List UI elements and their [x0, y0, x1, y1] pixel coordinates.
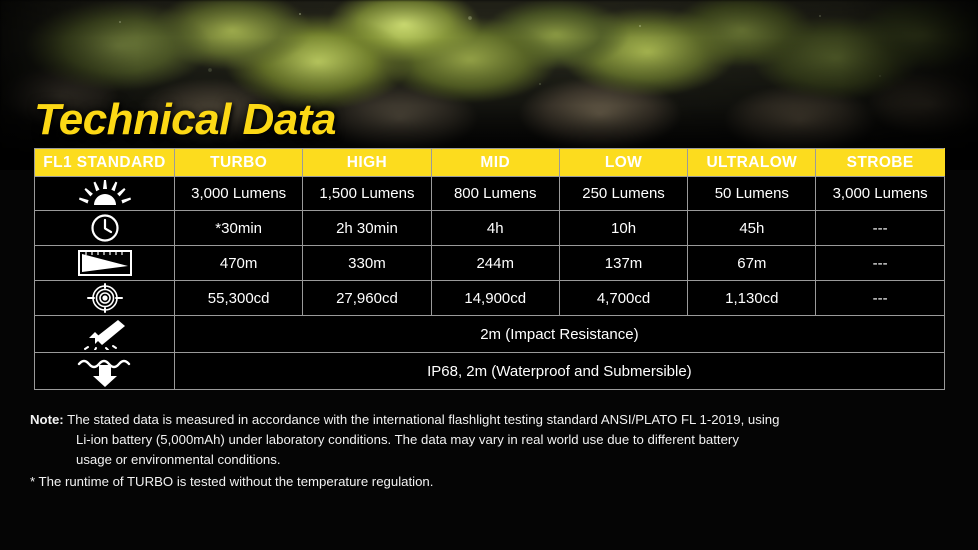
- page-title: Technical Data: [34, 95, 336, 145]
- row-icon-cell-intensity: [35, 281, 175, 316]
- cell-output-ultralow: 50 Lumens: [688, 177, 816, 211]
- cell-intensity-strobe: ---: [816, 281, 944, 316]
- cell-beam-strobe: ---: [816, 246, 944, 281]
- header-ultralow: ULTRALOW: [688, 149, 816, 177]
- impact-resistance-icon: [82, 318, 128, 350]
- cell-waterproof: IP68, 2m (Waterproof and Submersible): [175, 353, 945, 390]
- header-low: LOW: [559, 149, 687, 177]
- cell-runtime-strobe: ---: [816, 211, 944, 246]
- waterproof-icon: [77, 355, 133, 387]
- table-row: IP68, 2m (Waterproof and Submersible): [35, 353, 945, 390]
- cell-beam-ultralow: 67m: [688, 246, 816, 281]
- note-line-4: * The runtime of TURBO is tested without…: [30, 472, 950, 492]
- cell-output-high: 1,500 Lumens: [303, 177, 431, 211]
- table-row: *30min 2h 30min 4h 10h 45h ---: [35, 211, 945, 246]
- peak-beam-intensity-icon: [85, 283, 125, 313]
- table-row: 470m 330m 244m 137m 67m ---: [35, 246, 945, 281]
- cell-runtime-mid: 4h: [431, 211, 559, 246]
- row-icon-cell-waterproof: [35, 353, 175, 390]
- cell-intensity-ultralow: 1,130cd: [688, 281, 816, 316]
- table-row: 3,000 Lumens 1,500 Lumens 800 Lumens 250…: [35, 177, 945, 211]
- notes-block: Note: The stated data is measured in acc…: [30, 410, 950, 492]
- row-icon-cell-beam-distance: [35, 246, 175, 281]
- technical-data-page: Technical Data FL1 STANDARD TURBO HIGH M…: [0, 0, 978, 550]
- row-icon-cell-impact: [35, 316, 175, 353]
- cell-output-turbo: 3,000 Lumens: [175, 177, 303, 211]
- clock-runtime-icon: [90, 213, 120, 243]
- cell-intensity-low: 4,700cd: [559, 281, 687, 316]
- note-line-2: Li-ion battery (5,000mAh) under laborato…: [30, 430, 950, 450]
- header-strobe: STROBE: [816, 149, 944, 177]
- sun-brightness-icon: [79, 180, 131, 208]
- cell-beam-high: 330m: [303, 246, 431, 281]
- header-high: HIGH: [303, 149, 431, 177]
- cell-runtime-high: 2h 30min: [303, 211, 431, 246]
- spec-table-container: FL1 STANDARD TURBO HIGH MID LOW ULTRALOW…: [34, 148, 944, 390]
- header-turbo: TURBO: [175, 149, 303, 177]
- note-label: Note:: [30, 412, 64, 427]
- technical-spec-table: FL1 STANDARD TURBO HIGH MID LOW ULTRALOW…: [34, 148, 945, 390]
- cell-intensity-high: 27,960cd: [303, 281, 431, 316]
- cell-intensity-turbo: 55,300cd: [175, 281, 303, 316]
- cell-beam-turbo: 470m: [175, 246, 303, 281]
- cell-output-strobe: 3,000 Lumens: [816, 177, 944, 211]
- cell-runtime-low: 10h: [559, 211, 687, 246]
- cell-output-low: 250 Lumens: [559, 177, 687, 211]
- cell-runtime-turbo: *30min: [175, 211, 303, 246]
- table-header-row: FL1 STANDARD TURBO HIGH MID LOW ULTRALOW…: [35, 149, 945, 177]
- note-line-1-text: The stated data is measured in accordanc…: [67, 412, 779, 427]
- header-mid: MID: [431, 149, 559, 177]
- beam-distance-icon: [78, 248, 132, 278]
- note-line-1: Note: The stated data is measured in acc…: [30, 410, 950, 430]
- header-fl1-standard: FL1 STANDARD: [35, 149, 175, 177]
- cell-impact-resistance: 2m (Impact Resistance): [175, 316, 945, 353]
- table-row: 55,300cd 27,960cd 14,900cd 4,700cd 1,130…: [35, 281, 945, 316]
- row-icon-cell-runtime: [35, 211, 175, 246]
- cell-output-mid: 800 Lumens: [431, 177, 559, 211]
- note-line-3: usage or environmental conditions.: [30, 450, 950, 470]
- cell-beam-mid: 244m: [431, 246, 559, 281]
- row-icon-cell-output: [35, 177, 175, 211]
- cell-beam-low: 137m: [559, 246, 687, 281]
- cell-runtime-ultralow: 45h: [688, 211, 816, 246]
- cell-intensity-mid: 14,900cd: [431, 281, 559, 316]
- table-row: 2m (Impact Resistance): [35, 316, 945, 353]
